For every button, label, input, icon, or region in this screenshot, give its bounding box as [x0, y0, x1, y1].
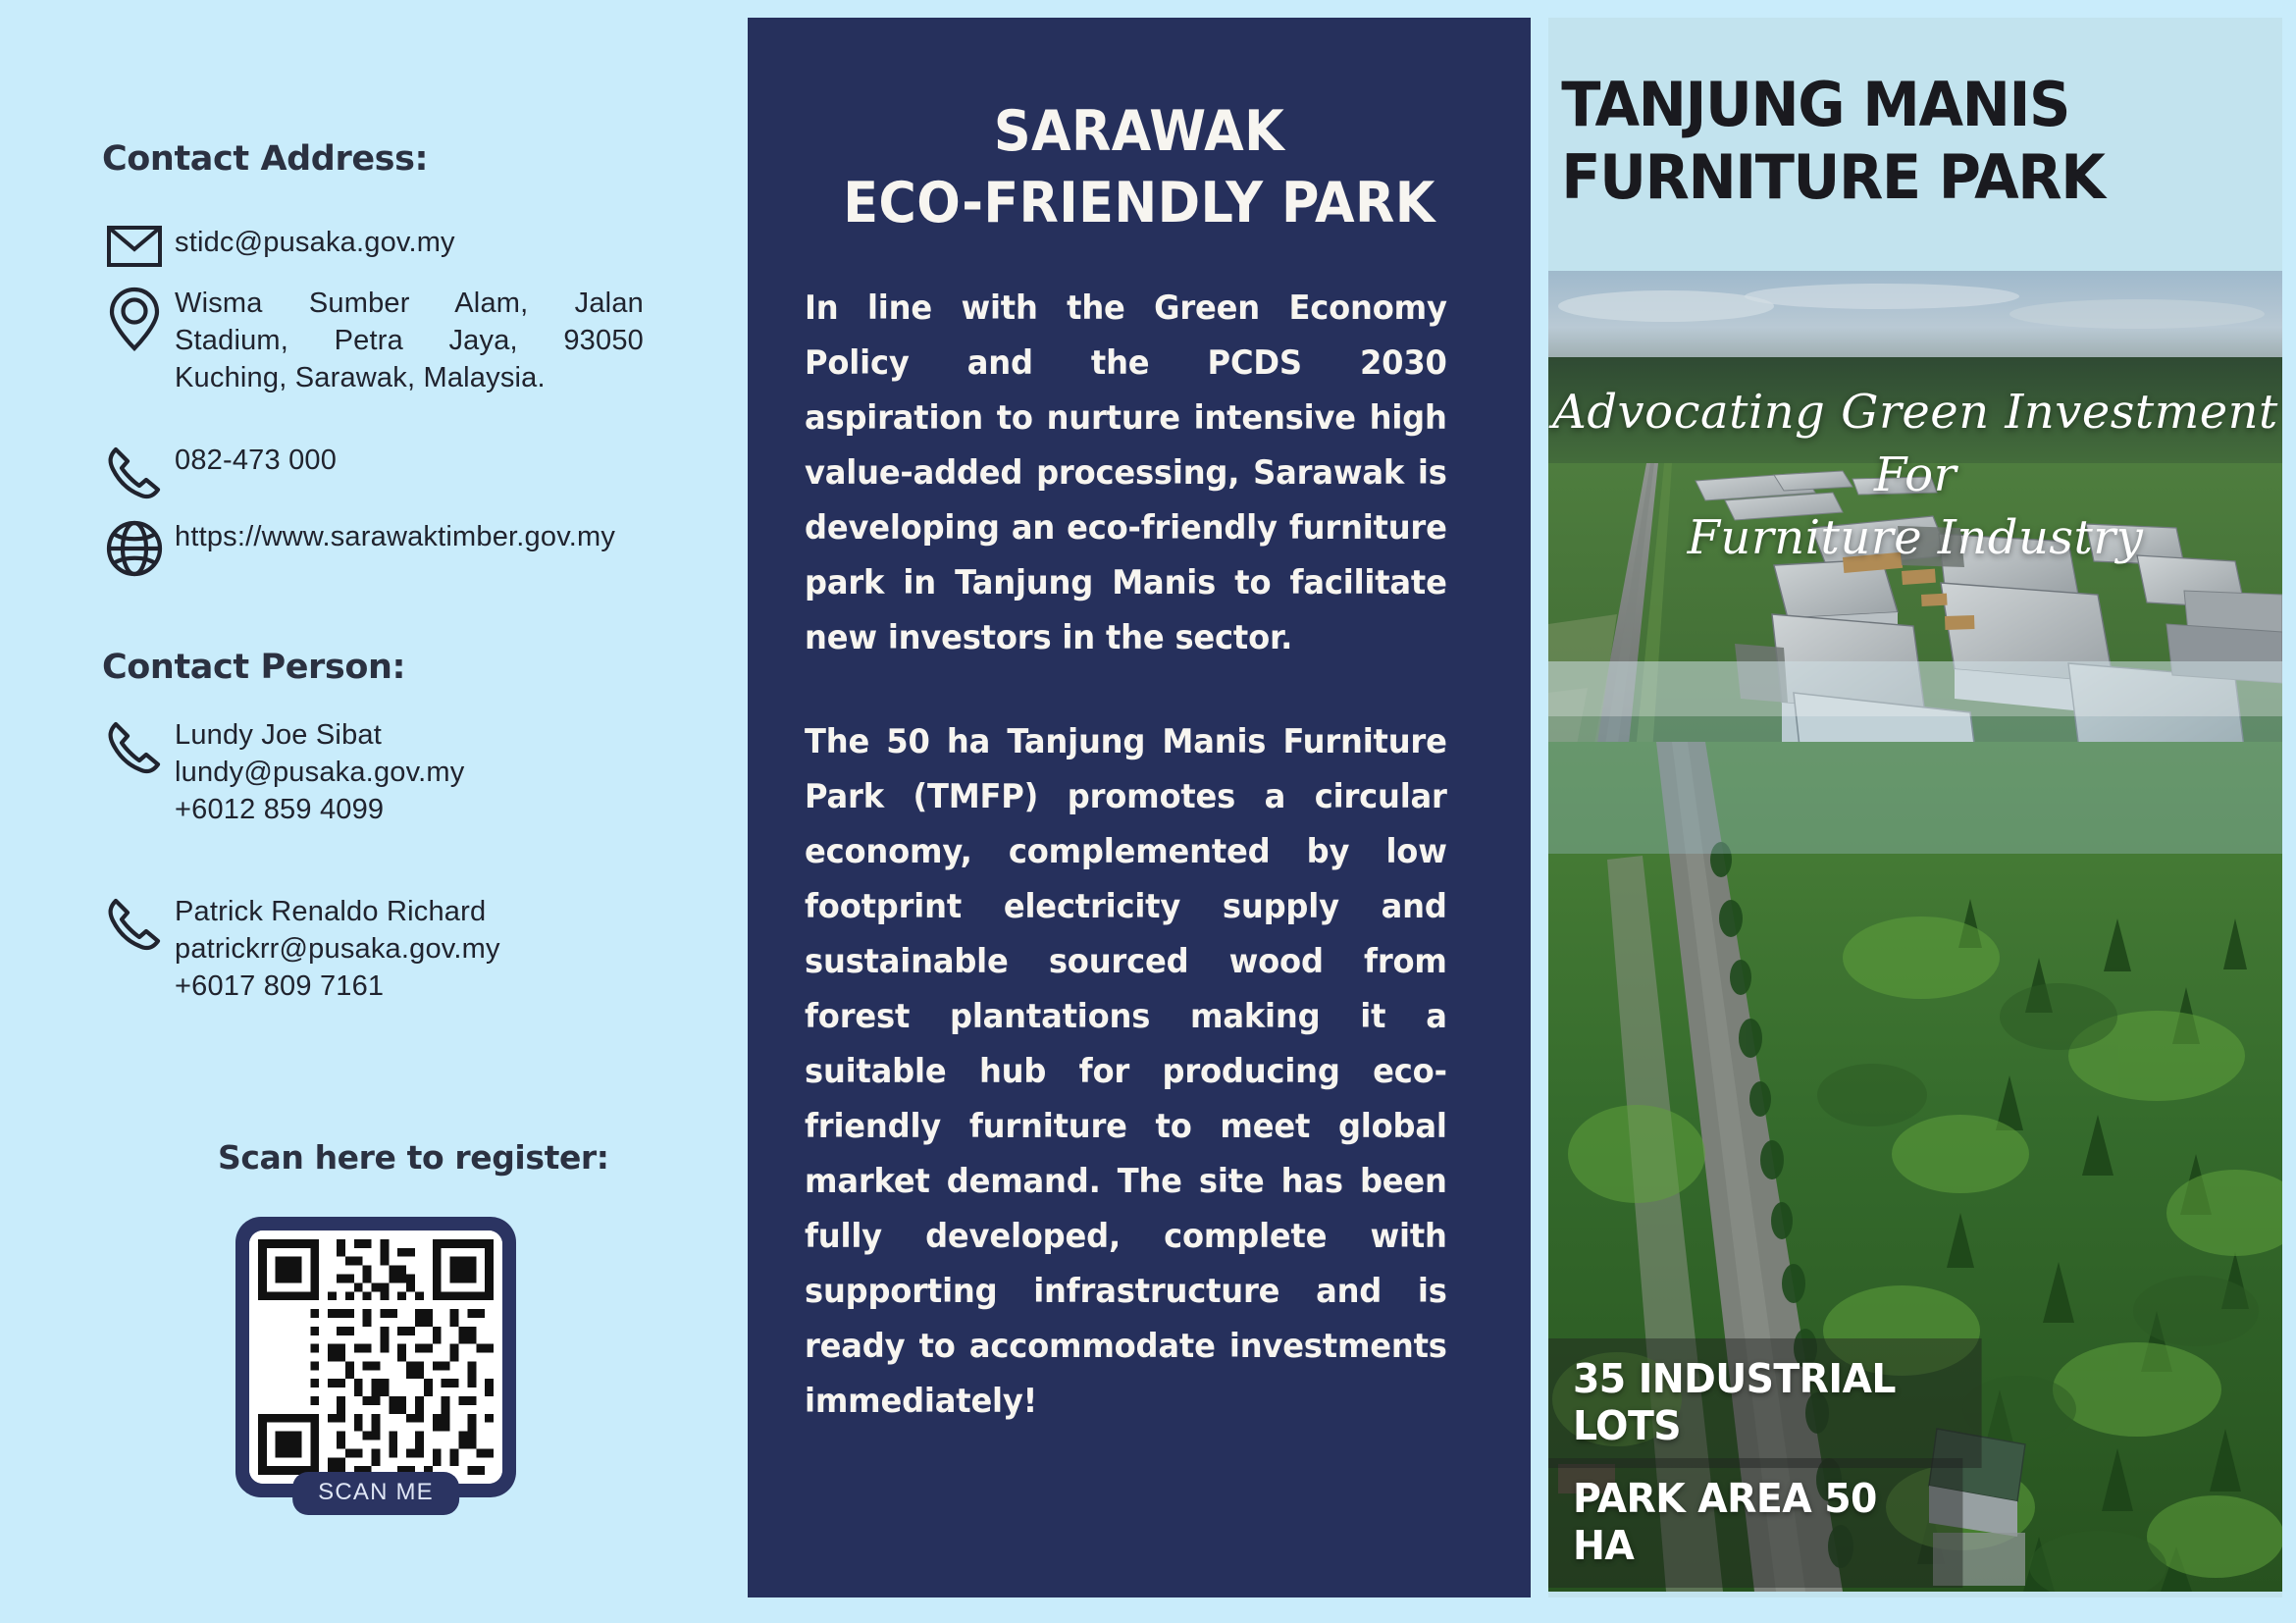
phone-icon [94, 716, 175, 775]
contact-address-text: Wisma Sumber Alam, Jalan Stadium, Petra … [175, 285, 644, 396]
description-paragraph-2: The 50 ha Tanjung Manis Furniture Park (… [805, 714, 1447, 1429]
brochure-page: Contact Address: stidc@pusaka.gov.my Wis… [0, 0, 2296, 1623]
contact-person-name: Patrick Renaldo Richard [175, 896, 486, 927]
contact-person-email: lundy@pusaka.gov.my [175, 757, 464, 788]
contact-person-row[interactable]: Patrick Renaldo Richard patrickrr@pusaka… [94, 893, 500, 1005]
eco-park-title-line1: SARAWAK [831, 96, 1446, 168]
eco-park-title: SARAWAK ECO-FRIENDLY PARK [831, 96, 1446, 239]
contact-phone-text: 082-473 000 [175, 442, 337, 479]
contact-website-text: https://www.sarawaktimber.gov.my [175, 518, 615, 555]
park-title: TANJUNG MANIS FURNITURE PARK [1548, 69, 2246, 214]
park-title-line1: TANJUNG MANIS [1561, 69, 2238, 141]
phone-icon [94, 442, 175, 500]
qr-code-frame [235, 1217, 516, 1497]
contact-panel: Contact Address: stidc@pusaka.gov.my Wis… [0, 0, 746, 1623]
contact-email-text: stidc@pusaka.gov.my [175, 224, 455, 261]
contact-person-name: Lundy Joe Sibat [175, 719, 382, 751]
description-paragraph-1: In line with the Green Economy Policy an… [805, 281, 1447, 665]
contact-website-row[interactable]: https://www.sarawaktimber.gov.my [94, 518, 615, 577]
qr-code-block[interactable]: SCAN ME [235, 1217, 516, 1497]
contact-person-details: Patrick Renaldo Richard patrickrr@pusaka… [175, 893, 500, 1005]
contact-person-mobile: +6017 809 7161 [175, 970, 384, 1002]
globe-icon [94, 518, 175, 577]
envelope-icon [94, 224, 175, 267]
contact-address-heading: Contact Address: [102, 139, 428, 179]
phone-icon [94, 893, 175, 952]
contact-person-email: patrickrr@pusaka.gov.my [175, 933, 500, 965]
hero-panel: TANJUNG MANIS FURNITURE PARK [1548, 18, 2282, 1597]
scan-here-heading: Scan here to register: [218, 1138, 609, 1177]
fact-industrial-lots: 35 INDUSTRIAL LOTS [1548, 1338, 1982, 1468]
contact-email-row[interactable]: stidc@pusaka.gov.my [94, 224, 455, 267]
fact-park-area: PARK AREA 50 HA [1548, 1458, 1962, 1588]
contact-person-heading: Contact Person: [102, 648, 405, 687]
contact-phone-row[interactable]: 082-473 000 [94, 442, 337, 500]
contact-address-row: Wisma Sumber Alam, Jalan Stadium, Petra … [94, 285, 663, 396]
eco-park-title-line2: ECO-FRIENDLY PARK [831, 168, 1446, 239]
description-panel: SARAWAK ECO-FRIENDLY PARK In line with t… [748, 18, 1531, 1597]
park-title-line2: FURNITURE PARK [1561, 141, 2238, 214]
contact-person-mobile: +6012 859 4099 [175, 794, 384, 825]
qr-code-icon [249, 1230, 502, 1484]
contact-person-row[interactable]: Lundy Joe Sibat lundy@pusaka.gov.my +601… [94, 716, 464, 828]
contact-person-details: Lundy Joe Sibat lundy@pusaka.gov.my +601… [175, 716, 464, 828]
map-pin-icon [94, 285, 175, 351]
scan-me-label: SCAN ME [292, 1472, 459, 1515]
